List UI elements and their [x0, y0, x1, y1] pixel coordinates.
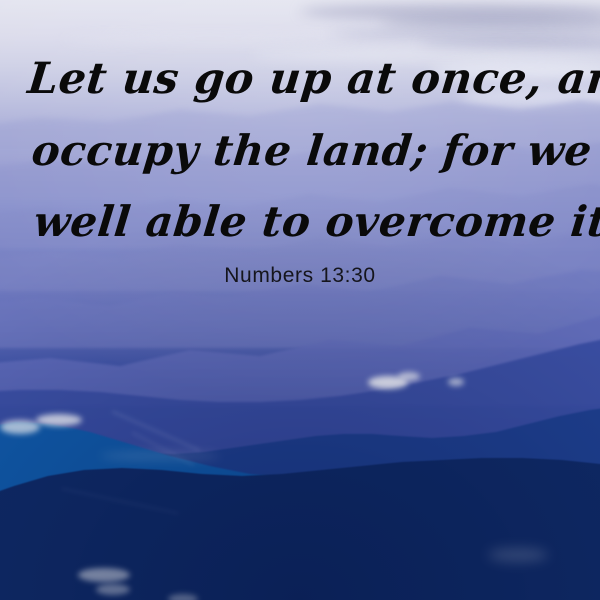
scripture-reference: Numbers 13:30 — [0, 264, 600, 288]
quote-line-2: occupy the land; for we are — [30, 130, 600, 172]
quote-line-1: Let us go up at once, and — [26, 58, 600, 101]
scripture-image: Let us go up at once, and occupy the lan… — [0, 0, 600, 600]
quote-line-3: well able to overcome it. — [32, 201, 600, 243]
